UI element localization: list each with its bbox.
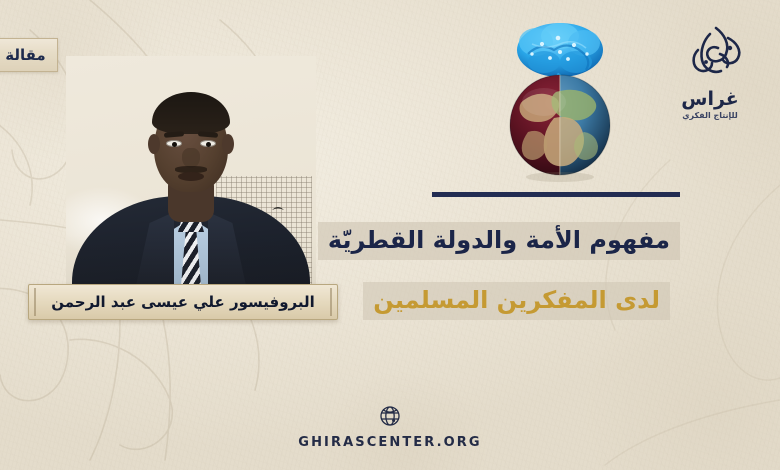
speaker-photo [66,56,316,304]
brand-name-label: غراس [664,88,756,110]
article-card: مقالة [0,0,780,470]
speaker-nameplate: البروفيسور علي عيسى عبد الرحمن [28,284,338,320]
speaker-figure [66,56,316,304]
article-title-line-2: لدى المفكرين المسلمين [363,282,670,320]
hair [152,92,230,134]
pupil-right [206,142,211,147]
globe-grid-icon [378,404,402,428]
nose [182,148,200,168]
article-title-line-1: مفهوم الأمة والدولة القطريّة [318,222,680,260]
article-type-badge-label: مقالة [5,46,45,64]
speaker-name-label: البروفيسور علي عيسى عبد الرحمن [51,293,315,311]
brand-subtitle-label: للإنتاج الفكري [664,111,756,120]
globe-shape [510,75,610,175]
footer: GHIRASCENTER.ORG [0,404,780,450]
ghiras-calligraphy-icon [664,24,756,82]
pupil-left [172,142,177,147]
article-type-badge: مقالة [0,38,58,72]
globe-brain-graphic [498,14,622,182]
footer-website-url[interactable]: GHIRASCENTER.ORG [298,435,481,450]
ear-right [222,134,234,154]
brand-logo[interactable]: غراس للإنتاج الفكري [664,24,756,132]
title-divider [432,192,680,197]
mouth [178,172,204,181]
ear-left [148,134,160,154]
globe-brain-icon [498,14,622,182]
